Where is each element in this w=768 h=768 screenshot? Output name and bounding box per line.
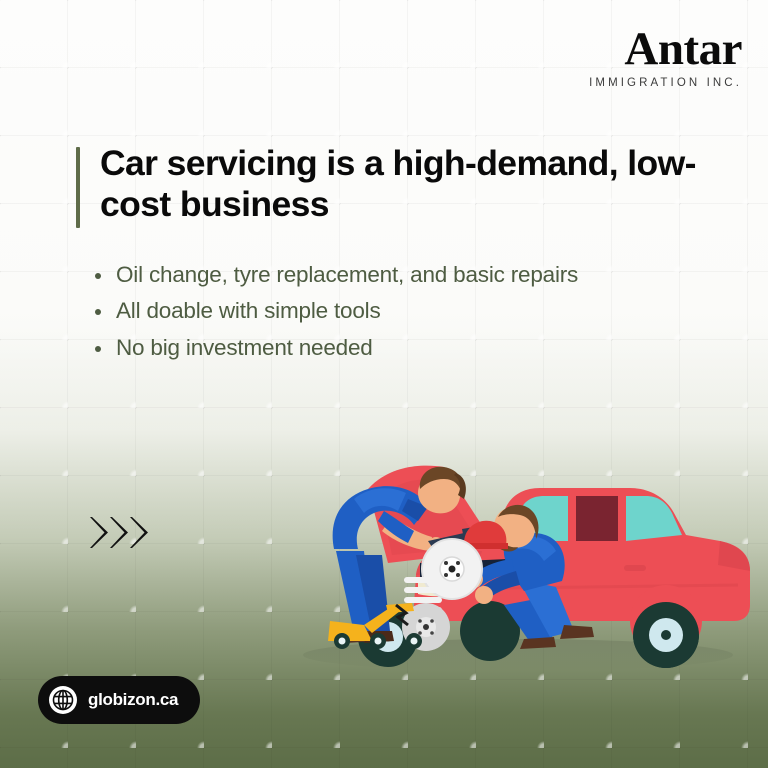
logo-wordmark: Antar	[589, 26, 742, 72]
page-title: Car servicing is a high-demand, low-cost…	[100, 143, 700, 228]
poster-canvas: Antar IMMIGRATION INC. Car servicing is …	[0, 0, 768, 768]
website-badge[interactable]: globizon.ca	[38, 676, 200, 724]
website-label: globizon.ca	[88, 690, 178, 710]
list-item: Oil change, tyre replacement, and basic …	[88, 257, 578, 293]
car-servicing-illustration	[268, 455, 768, 685]
feature-bullet-list: Oil change, tyre replacement, and basic …	[88, 257, 578, 366]
headline-block: Car servicing is a high-demand, low-cost…	[76, 147, 700, 228]
brand-logo: Antar IMMIGRATION INC.	[589, 26, 742, 89]
logo-subtitle: IMMIGRATION INC.	[589, 77, 742, 89]
list-item: No big investment needed	[88, 330, 578, 366]
globe-icon	[49, 686, 77, 714]
headline-accent-bar	[76, 147, 80, 228]
list-item: All doable with simple tools	[88, 293, 578, 329]
double-chevron-right-icon[interactable]	[88, 513, 156, 553]
